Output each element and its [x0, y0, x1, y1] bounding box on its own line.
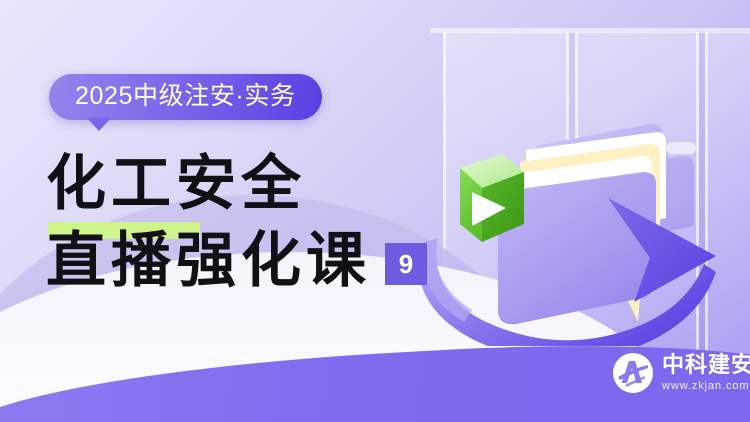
brand-mark-icon — [612, 352, 654, 394]
headline-line-one: 化工安全 — [46, 152, 427, 215]
brand-logo-texts: 中科建安 www.zkjan.com — [662, 354, 750, 392]
headline-line-two-row: 直播强化课 9 — [46, 229, 427, 292]
badge-pill-shape: 2025中级注安·实务 — [49, 74, 322, 120]
badge-pill-label: 2025中级注安·实务 — [75, 82, 296, 110]
course-banner: 2025中级注安·实务 化工安全 直播强化课 9 中科建安 — [0, 0, 750, 422]
headline-line-one-text: 化工安全 — [46, 150, 306, 217]
course-illustration — [398, 96, 718, 346]
course-category-badge: 2025中级注安·实务 — [49, 74, 322, 120]
badge-pill-tail — [87, 118, 111, 131]
brand-url: www.zkjan.com — [662, 381, 750, 392]
episode-number-badge: 9 — [385, 243, 427, 285]
background-panel-top-edge — [430, 28, 750, 33]
headline-line-two: 直播强化课 — [46, 229, 371, 292]
brand-logo: 中科建安 www.zkjan.com — [612, 352, 750, 394]
brand-name: 中科建安 — [662, 354, 750, 376]
headline-block: 化工安全 直播强化课 9 — [46, 152, 427, 292]
headline-line-two-text: 直播强化课 — [46, 227, 371, 294]
